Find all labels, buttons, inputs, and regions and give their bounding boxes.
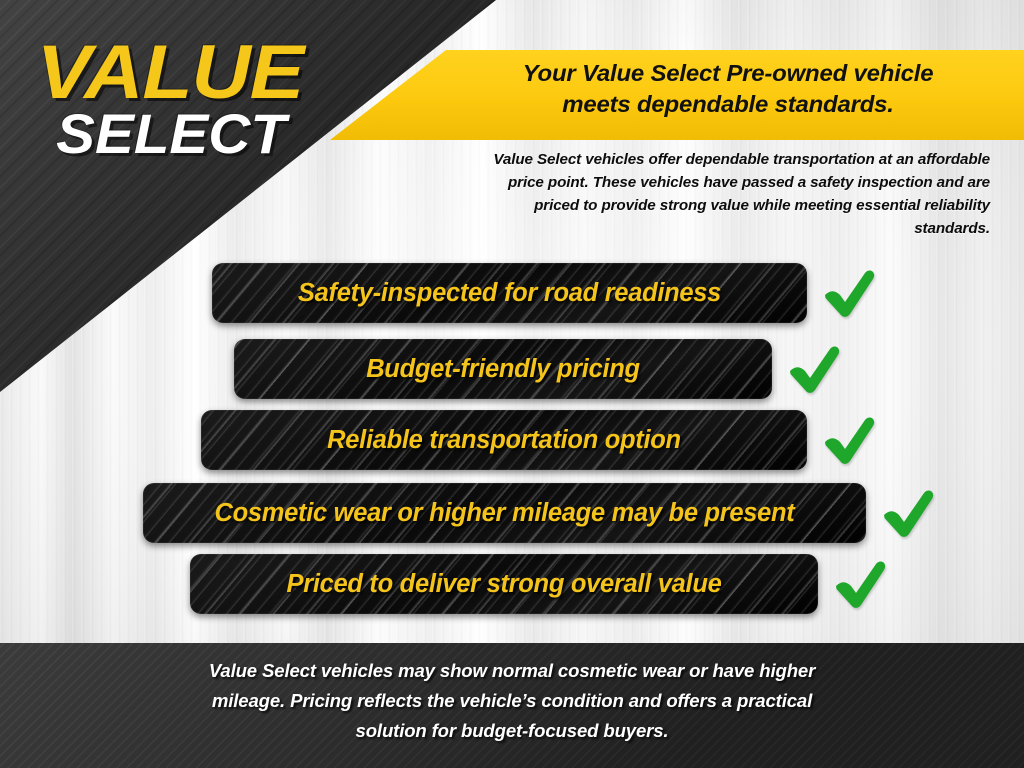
check-icon [821,268,877,318]
feature-bar-4: Cosmetic wear or higher mileage may be p… [143,483,866,543]
feature-label-4: Cosmetic wear or higher mileage may be p… [189,499,821,528]
feature-bar-3: Reliable transportation option [201,410,807,470]
feature-bar-1: Safety-inspected for road readiness [212,263,807,323]
footer-line-3: solution for budget-focused buyers. [70,716,954,746]
feature-row-4: Cosmetic wear or higher mileage may be p… [143,483,936,543]
check-icon [821,415,877,465]
footer-text: Value Select vehicles may show normal co… [70,656,954,746]
check-icon [786,344,842,394]
feature-label-2: Budget-friendly pricing [340,355,666,384]
feature-row-5: Priced to deliver strong overall value [190,554,888,614]
footer-disclaimer: Value Select vehicles may show normal co… [0,643,1024,768]
footer-line-2: mileage. Pricing reflects the vehicle’s … [70,686,954,716]
feature-bar-5: Priced to deliver strong overall value [190,554,818,614]
value-select-banner: VALUE SELECT Your Value Select Pre-owned… [0,0,1024,768]
feature-row-1: Safety-inspected for road readiness [212,263,877,323]
feature-label-1: Safety-inspected for road readiness [272,279,747,308]
feature-label-3: Reliable transportation option [301,426,707,455]
feature-row-3: Reliable transportation option [201,410,877,470]
feature-label-5: Priced to deliver strong overall value [260,570,747,599]
check-icon [880,488,936,538]
check-icon [832,559,888,609]
feature-bar-2: Budget-friendly pricing [234,339,772,399]
footer-line-1: Value Select vehicles may show normal co… [70,656,954,686]
feature-row-2: Budget-friendly pricing [234,339,842,399]
